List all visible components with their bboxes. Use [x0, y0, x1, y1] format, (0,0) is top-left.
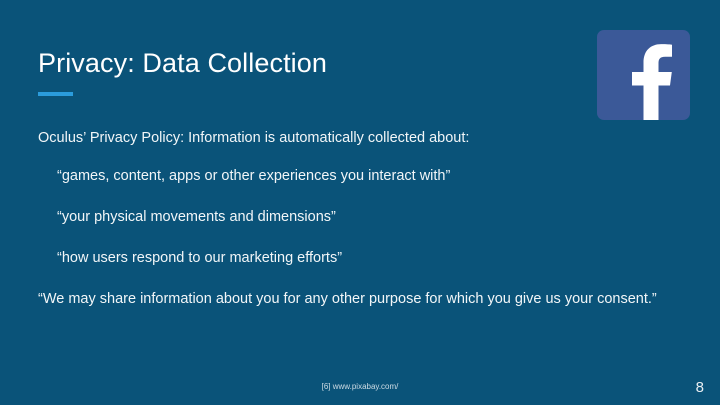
- facebook-logo: [597, 30, 690, 120]
- title-block: Privacy: Data Collection: [38, 46, 578, 96]
- closing-paragraph: “We may share information about you for …: [38, 289, 678, 310]
- quote-item: “how users respond to our marketing effo…: [38, 248, 686, 269]
- body-content: Oculus’ Privacy Policy: Information is a…: [38, 128, 686, 310]
- lead-paragraph: Oculus’ Privacy Policy: Information is a…: [38, 128, 686, 149]
- title-accent-bar: [38, 92, 73, 96]
- facebook-f-icon: [597, 30, 690, 120]
- page-title: Privacy: Data Collection: [38, 46, 578, 80]
- quote-item: “games, content, apps or other experienc…: [38, 166, 686, 187]
- page-number: 8: [696, 378, 704, 397]
- quote-item: “your physical movements and dimensions”: [38, 207, 686, 228]
- slide: Privacy: Data Collection Oculus’ Privacy…: [0, 0, 720, 405]
- citation-footer: [6] www.pixabay.com/: [0, 381, 720, 392]
